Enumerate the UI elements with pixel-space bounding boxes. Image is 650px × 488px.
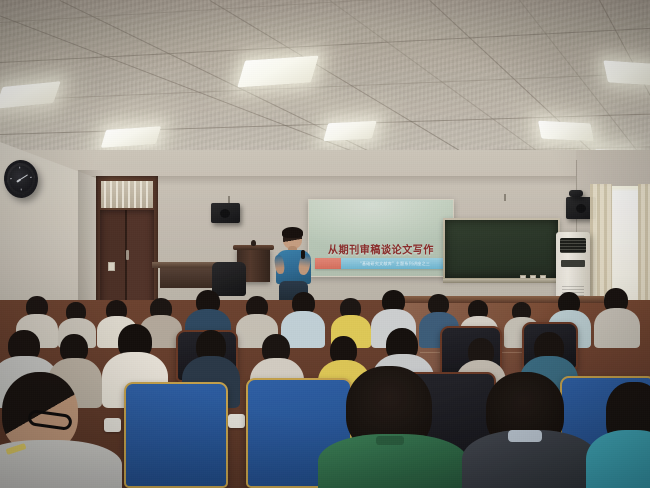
speaker-bracket bbox=[504, 194, 506, 201]
clock-hour-hand bbox=[16, 179, 21, 183]
ac-grille bbox=[560, 238, 586, 253]
presenter-microphone bbox=[301, 250, 305, 259]
presenter-hair bbox=[282, 227, 303, 238]
light-switch[interactable] bbox=[108, 262, 115, 271]
ceiling-light-panel bbox=[323, 121, 377, 141]
shirt-collar bbox=[508, 430, 542, 442]
chalk-eraser bbox=[520, 275, 526, 279]
projected-slide: 从期刊审稿谈论文写作 "基础研究文献库" 主题系列讲座之三 bbox=[309, 200, 453, 276]
door-transom-window bbox=[101, 181, 153, 208]
lecture-hall-photo: 从期刊审稿谈论文写作 "基础研究文献库" 主题系列讲座之三 bbox=[0, 0, 650, 488]
ceiling-light-panel bbox=[603, 60, 650, 85]
clock-minute-hand bbox=[21, 174, 29, 179]
clock-face bbox=[8, 165, 34, 194]
slide-accent-bar: "基础研究文献库" 主题系列讲座之三 bbox=[315, 258, 449, 269]
collar bbox=[376, 436, 404, 445]
green-chalkboard bbox=[443, 218, 560, 280]
podium-microphone bbox=[251, 240, 256, 246]
slide-subtitle: "基础研究文献库" 主题系列讲座之三 bbox=[341, 258, 449, 269]
audience-front-row bbox=[0, 368, 650, 488]
slide-title: 从期刊审稿谈论文写作 bbox=[309, 241, 453, 257]
wall-speaker-left bbox=[211, 203, 240, 223]
chalk-eraser bbox=[530, 275, 536, 279]
slide-accent-block bbox=[315, 258, 341, 269]
ceiling-light-panel bbox=[237, 56, 319, 88]
projection-screen: 从期刊审稿谈论文写作 "基础研究文献库" 主题系列讲座之三 bbox=[308, 199, 454, 277]
ac-control-panel[interactable] bbox=[561, 260, 585, 267]
audience-body bbox=[586, 430, 650, 488]
ceiling-projector bbox=[569, 190, 583, 197]
chalkboard-surface bbox=[445, 220, 558, 278]
door-handle[interactable] bbox=[126, 250, 129, 260]
chalk-eraser bbox=[540, 275, 546, 279]
ceiling-light-panel bbox=[538, 121, 594, 142]
